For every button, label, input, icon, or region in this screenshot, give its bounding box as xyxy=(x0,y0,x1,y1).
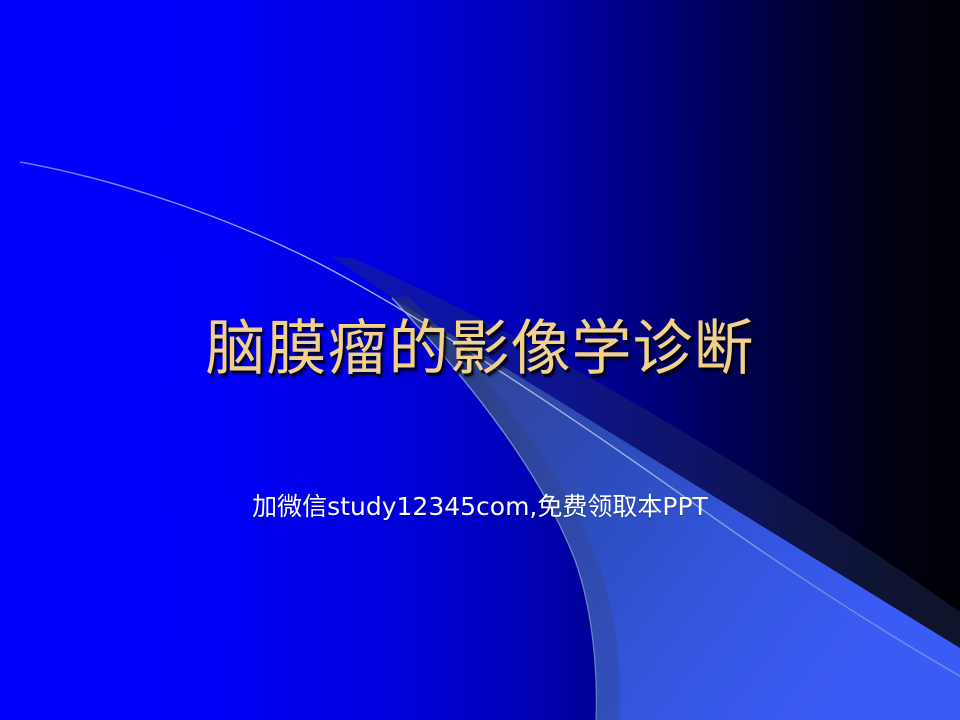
subtitle-block: 加微信study12345com,免费领取本PPT xyxy=(0,492,960,522)
slide-subtitle: 加微信study12345com,免费领取本PPT xyxy=(252,492,708,522)
title-block: 脑膜瘤的影像学诊断 xyxy=(0,318,960,381)
presentation-slide: 脑膜瘤的影像学诊断 加微信study12345com,免费领取本PPT xyxy=(0,0,960,720)
slide-text-layer: 脑膜瘤的影像学诊断 加微信study12345com,免费领取本PPT xyxy=(0,0,960,720)
page-title: 脑膜瘤的影像学诊断 xyxy=(206,318,755,381)
